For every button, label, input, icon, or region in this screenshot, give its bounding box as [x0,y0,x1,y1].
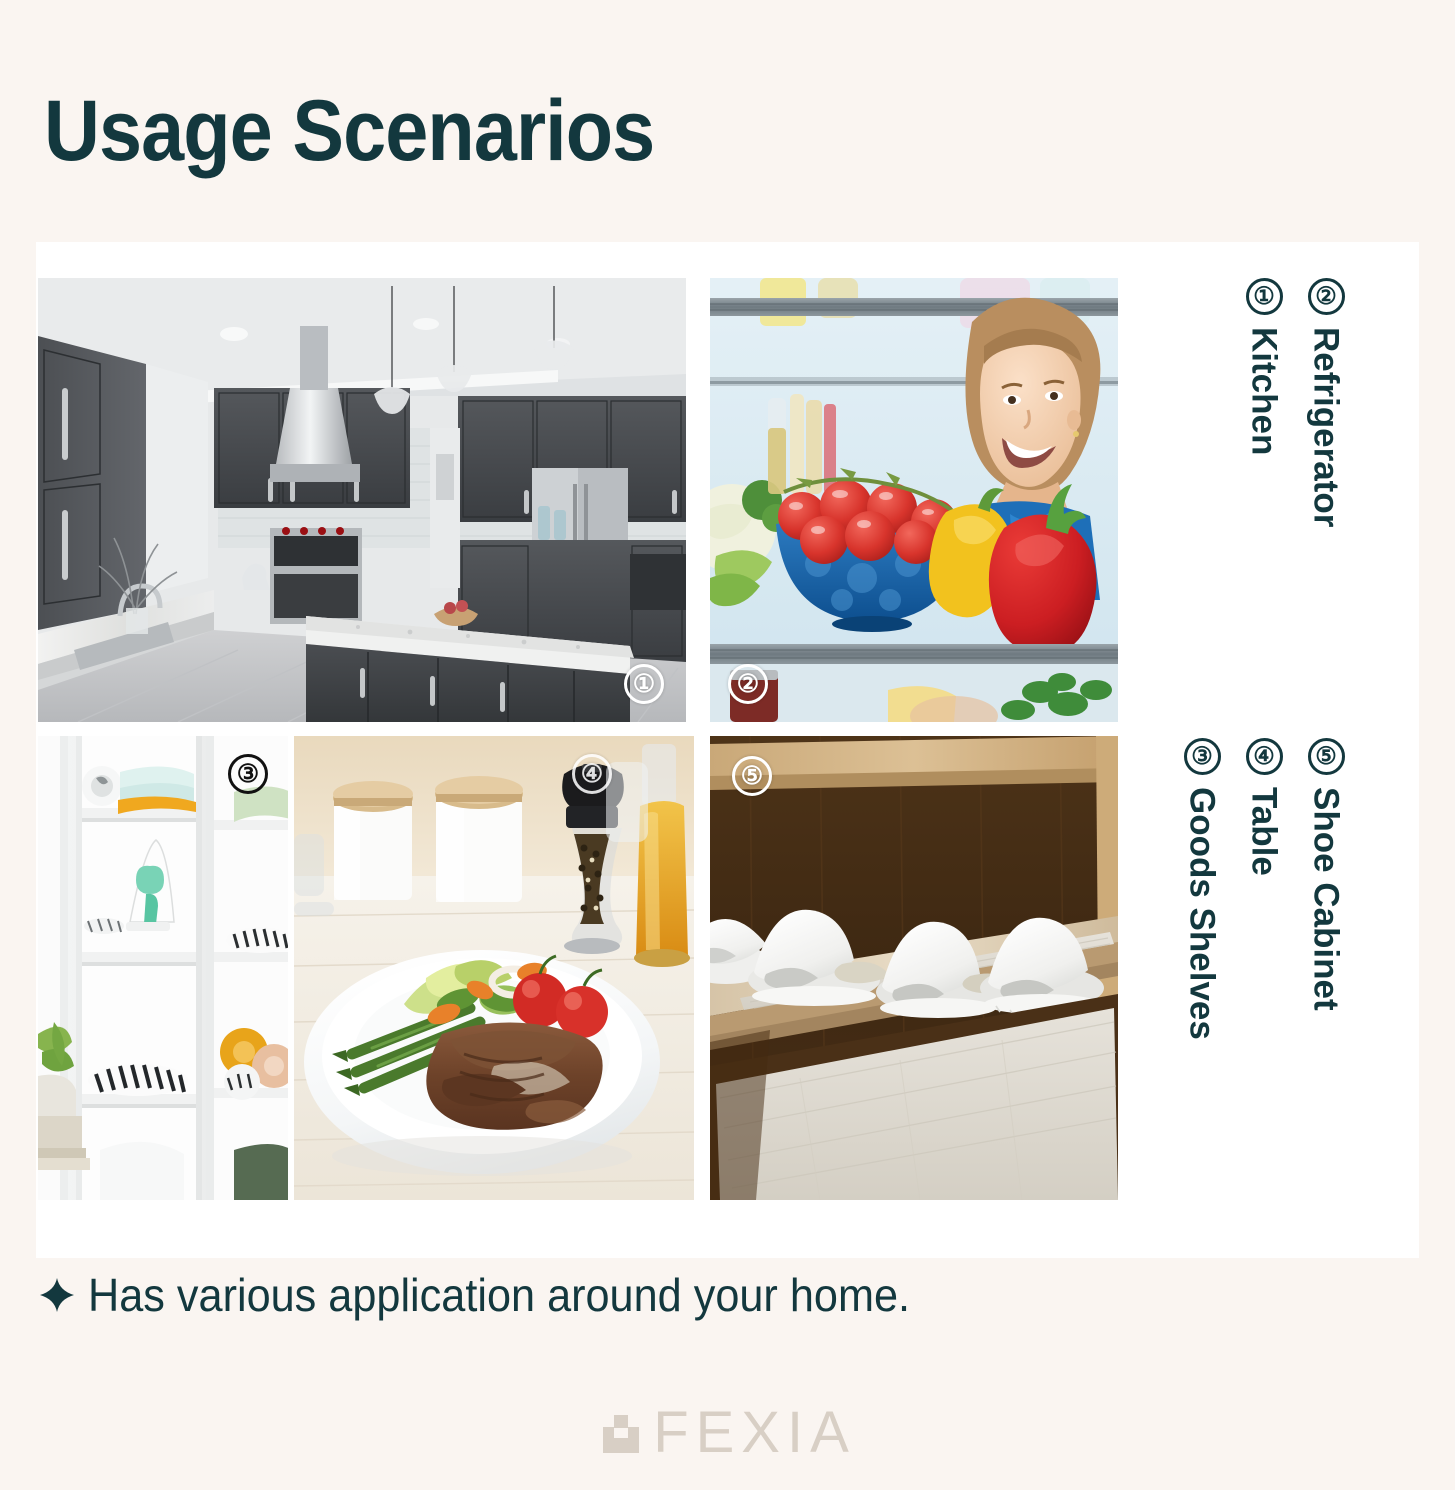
sparkle-star-icon [40,1278,74,1312]
legend-number-5: ⑤ [1308,738,1345,775]
photo-badge-1: ① [624,664,664,704]
legend: ① Kitchen ② Refrigerator ③ Goods Shelves… [1144,278,1414,1200]
legend-label-kitchen: Kitchen [1247,327,1282,455]
scenarios-card: ① [36,242,1419,1258]
photo-goods-shelves[interactable]: ③ [38,736,288,1200]
photo-badge-4: ④ [572,754,612,794]
page-title: Usage Scenarios [44,88,654,174]
legend-number-4: ④ [1246,738,1283,775]
basket-logo-icon [599,1411,643,1455]
legend-item-refrigerator[interactable]: ② Refrigerator [1296,278,1356,527]
photo-grid: ① [38,278,1120,1200]
legend-item-goods-shelves[interactable]: ③ Goods Shelves [1172,738,1232,1040]
legend-item-table[interactable]: ④ Table [1234,738,1294,876]
kitchen-illustration [38,278,686,722]
photo-shoe-cabinet[interactable]: ⑤ [710,736,1118,1200]
feature-caption-text: Has various application around your home… [88,1272,910,1318]
photo-table[interactable]: ④ [294,736,694,1200]
photo-badge-3: ③ [228,754,268,794]
legend-number-1: ① [1246,278,1283,315]
refrigerator-illustration [710,278,1118,722]
photo-kitchen[interactable]: ① [38,278,686,722]
legend-label-goods-shelves: Goods Shelves [1185,787,1220,1040]
photo-badge-5: ⑤ [732,756,772,796]
shoe-cabinet-illustration [710,736,1118,1200]
legend-number-2: ② [1308,278,1345,315]
legend-number-3: ③ [1184,738,1221,775]
legend-item-kitchen[interactable]: ① Kitchen [1234,278,1294,455]
photo-badge-2: ② [728,664,768,704]
legend-label-shoe-cabinet: Shoe Cabinet [1309,787,1344,1011]
goods-shelves-illustration [38,736,288,1200]
feature-caption: Has various application around your home… [40,1272,963,1318]
legend-item-shoe-cabinet[interactable]: ⑤ Shoe Cabinet [1296,738,1356,1011]
brand-logo: FEXIA [0,1404,1455,1462]
table-illustration [294,736,694,1200]
photo-refrigerator[interactable]: ② [710,278,1118,722]
legend-label-table: Table [1247,787,1282,876]
legend-label-refrigerator: Refrigerator [1309,327,1344,527]
brand-name: FEXIA [653,1404,856,1462]
